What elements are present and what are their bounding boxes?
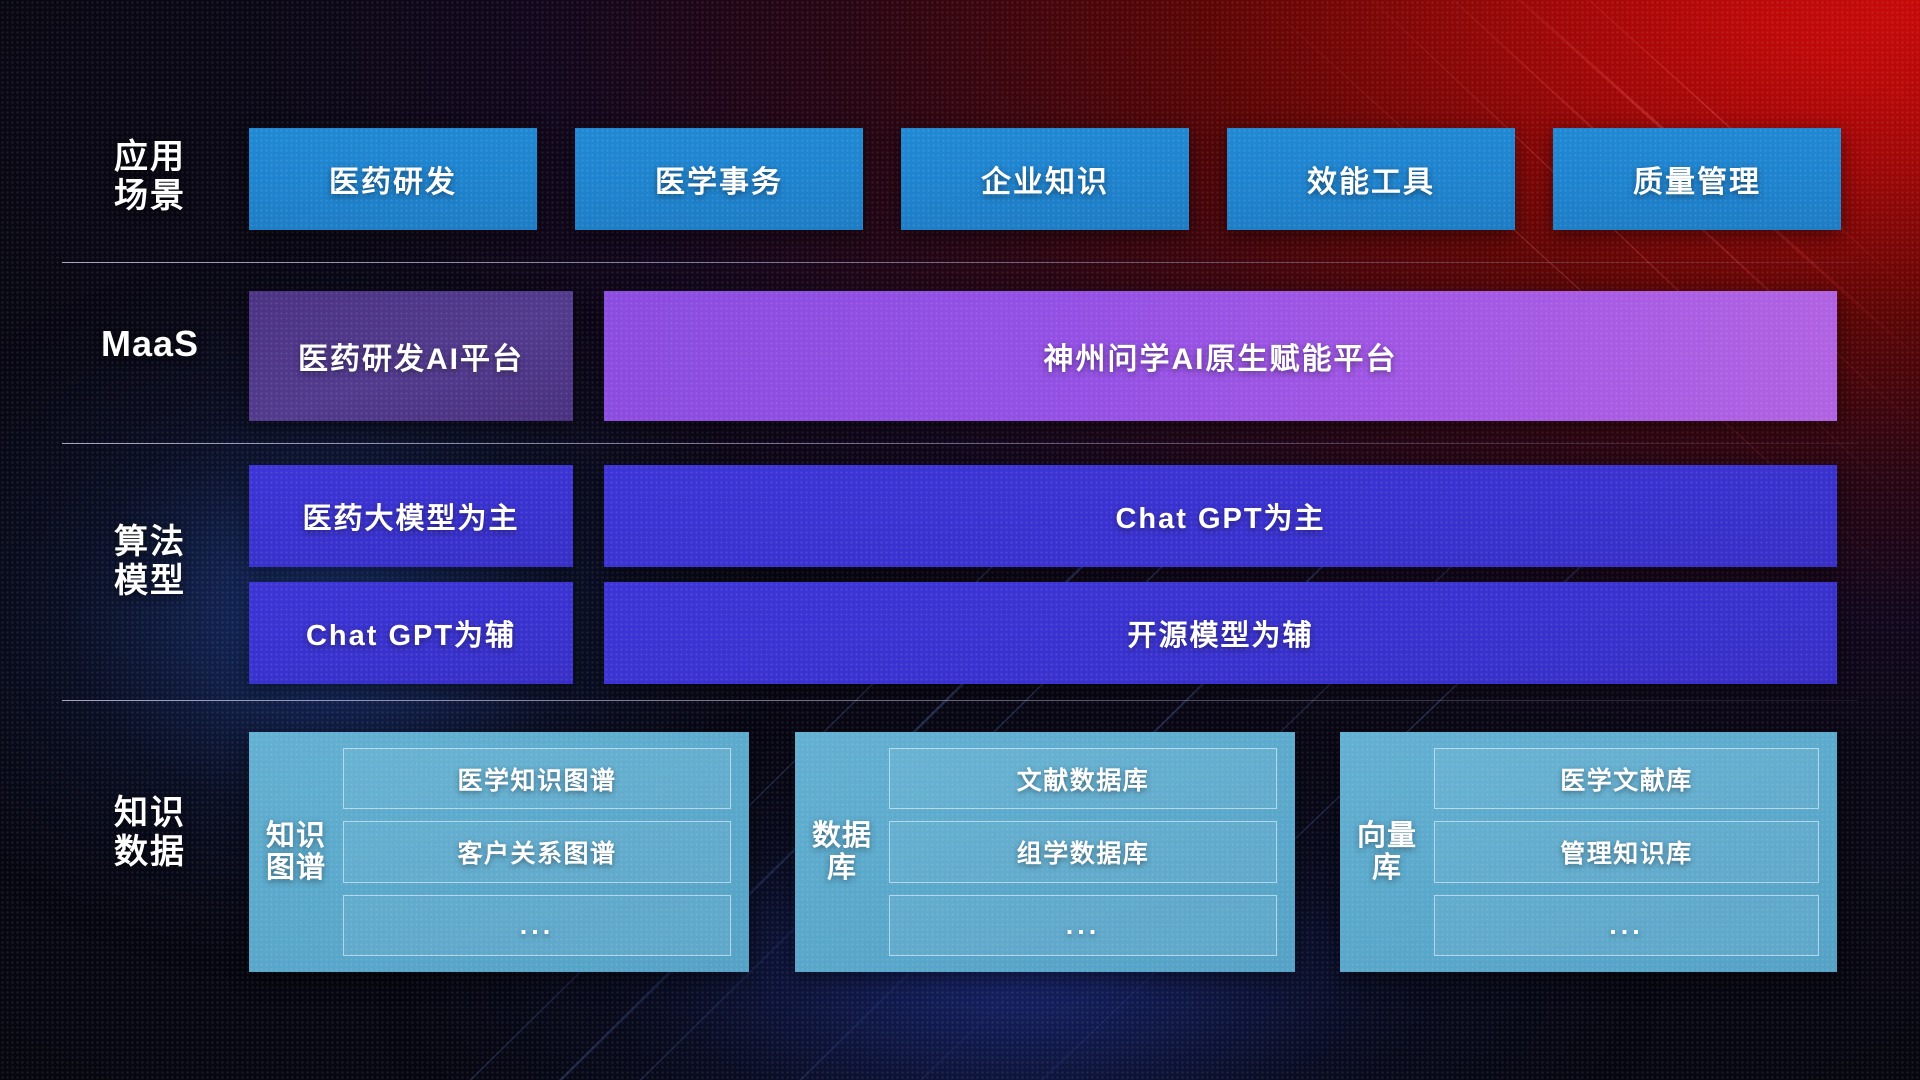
algorithm-card-label: Chat GPT为辅 [306,612,516,654]
scenario-card-label: 质量管理 [1633,157,1761,201]
knowledge-group-vector-store[interactable]: 向量库 医学文献库 管理知识库 ... [1340,732,1837,972]
row-label-maas: MaaS [62,323,238,365]
row-label-algorithm-models: 算法 模型 [62,523,238,602]
maas-card-medicine-rd-ai-platform[interactable]: 医药研发AI平台 [249,291,573,421]
scenario-card-medical-affairs[interactable]: 医学事务 [575,128,863,230]
knowledge-group-items: 文献数据库 组学数据库 ... [889,748,1277,956]
algorithm-card-medicine-large-model-primary[interactable]: 医药大模型为主 [249,465,573,567]
maas-card-label: 医药研发AI平台 [298,334,524,378]
row-label-application-scenarios: 应用 场景 [62,138,238,217]
knowledge-item-more[interactable]: ... [343,895,731,956]
scenario-card-enterprise-knowledge[interactable]: 企业知识 [901,128,1189,230]
row-label-line: MaaS [62,323,238,365]
knowledge-group-database[interactable]: 数据库 文献数据库 组学数据库 ... [795,732,1295,972]
knowledge-item[interactable]: 组学数据库 [889,821,1277,882]
algorithm-card-label: Chat GPT为主 [1115,495,1325,537]
architecture-diagram: 应用 场景 医药研发 医学事务 企业知识 效能工具 质量管理 MaaS 医药研发… [0,0,1920,1080]
knowledge-group-items: 医学知识图谱 客户关系图谱 ... [343,748,731,956]
row-label-line: 应用 [62,138,238,177]
divider-after-maas [62,443,1858,444]
maas-card-shenzhou-wenxue-platform[interactable]: 神州问学AI原生赋能平台 [604,291,1837,421]
algorithm-card-label: 医药大模型为主 [302,495,519,537]
knowledge-item[interactable]: 医学知识图谱 [343,748,731,809]
row-label-line: 数据 [62,833,238,872]
knowledge-group-title: 向量库 [1356,748,1418,956]
knowledge-group-title: 数据库 [811,748,873,956]
row-label-line: 场景 [62,177,238,216]
scenario-card-medicine-rd[interactable]: 医药研发 [249,128,537,230]
row-label-line: 模型 [62,562,238,601]
scenario-card-efficiency-tools[interactable]: 效能工具 [1227,128,1515,230]
scenario-card-label: 效能工具 [1307,157,1435,201]
divider-after-scenarios [62,262,1858,263]
knowledge-item[interactable]: 管理知识库 [1434,821,1819,882]
scenario-card-label: 医学事务 [655,157,783,201]
knowledge-item-more[interactable]: ... [889,895,1277,956]
scenario-card-label: 医药研发 [329,157,457,201]
knowledge-item[interactable]: 医学文献库 [1434,748,1819,809]
knowledge-group-items: 医学文献库 管理知识库 ... [1434,748,1819,956]
row-label-line: 算法 [62,523,238,562]
scenario-card-quality-management[interactable]: 质量管理 [1553,128,1841,230]
algorithm-card-chatgpt-secondary[interactable]: Chat GPT为辅 [249,582,573,684]
maas-card-label: 神州问学AI原生赋能平台 [1044,334,1398,378]
row-label-knowledge-data: 知识 数据 [62,794,238,873]
knowledge-item-more[interactable]: ... [1434,895,1819,956]
knowledge-item[interactable]: 客户关系图谱 [343,821,731,882]
algorithm-card-label: 开源模型为辅 [1127,612,1313,654]
row-label-line: 知识 [62,794,238,833]
knowledge-group-title: 知识图谱 [265,748,327,956]
knowledge-item[interactable]: 文献数据库 [889,748,1277,809]
algorithm-card-opensource-secondary[interactable]: 开源模型为辅 [604,582,1837,684]
divider-after-algorithms [62,700,1858,701]
algorithm-card-chatgpt-primary[interactable]: Chat GPT为主 [604,465,1837,567]
knowledge-group-knowledge-graph[interactable]: 知识图谱 医学知识图谱 客户关系图谱 ... [249,732,749,972]
scenario-card-label: 企业知识 [981,157,1109,201]
